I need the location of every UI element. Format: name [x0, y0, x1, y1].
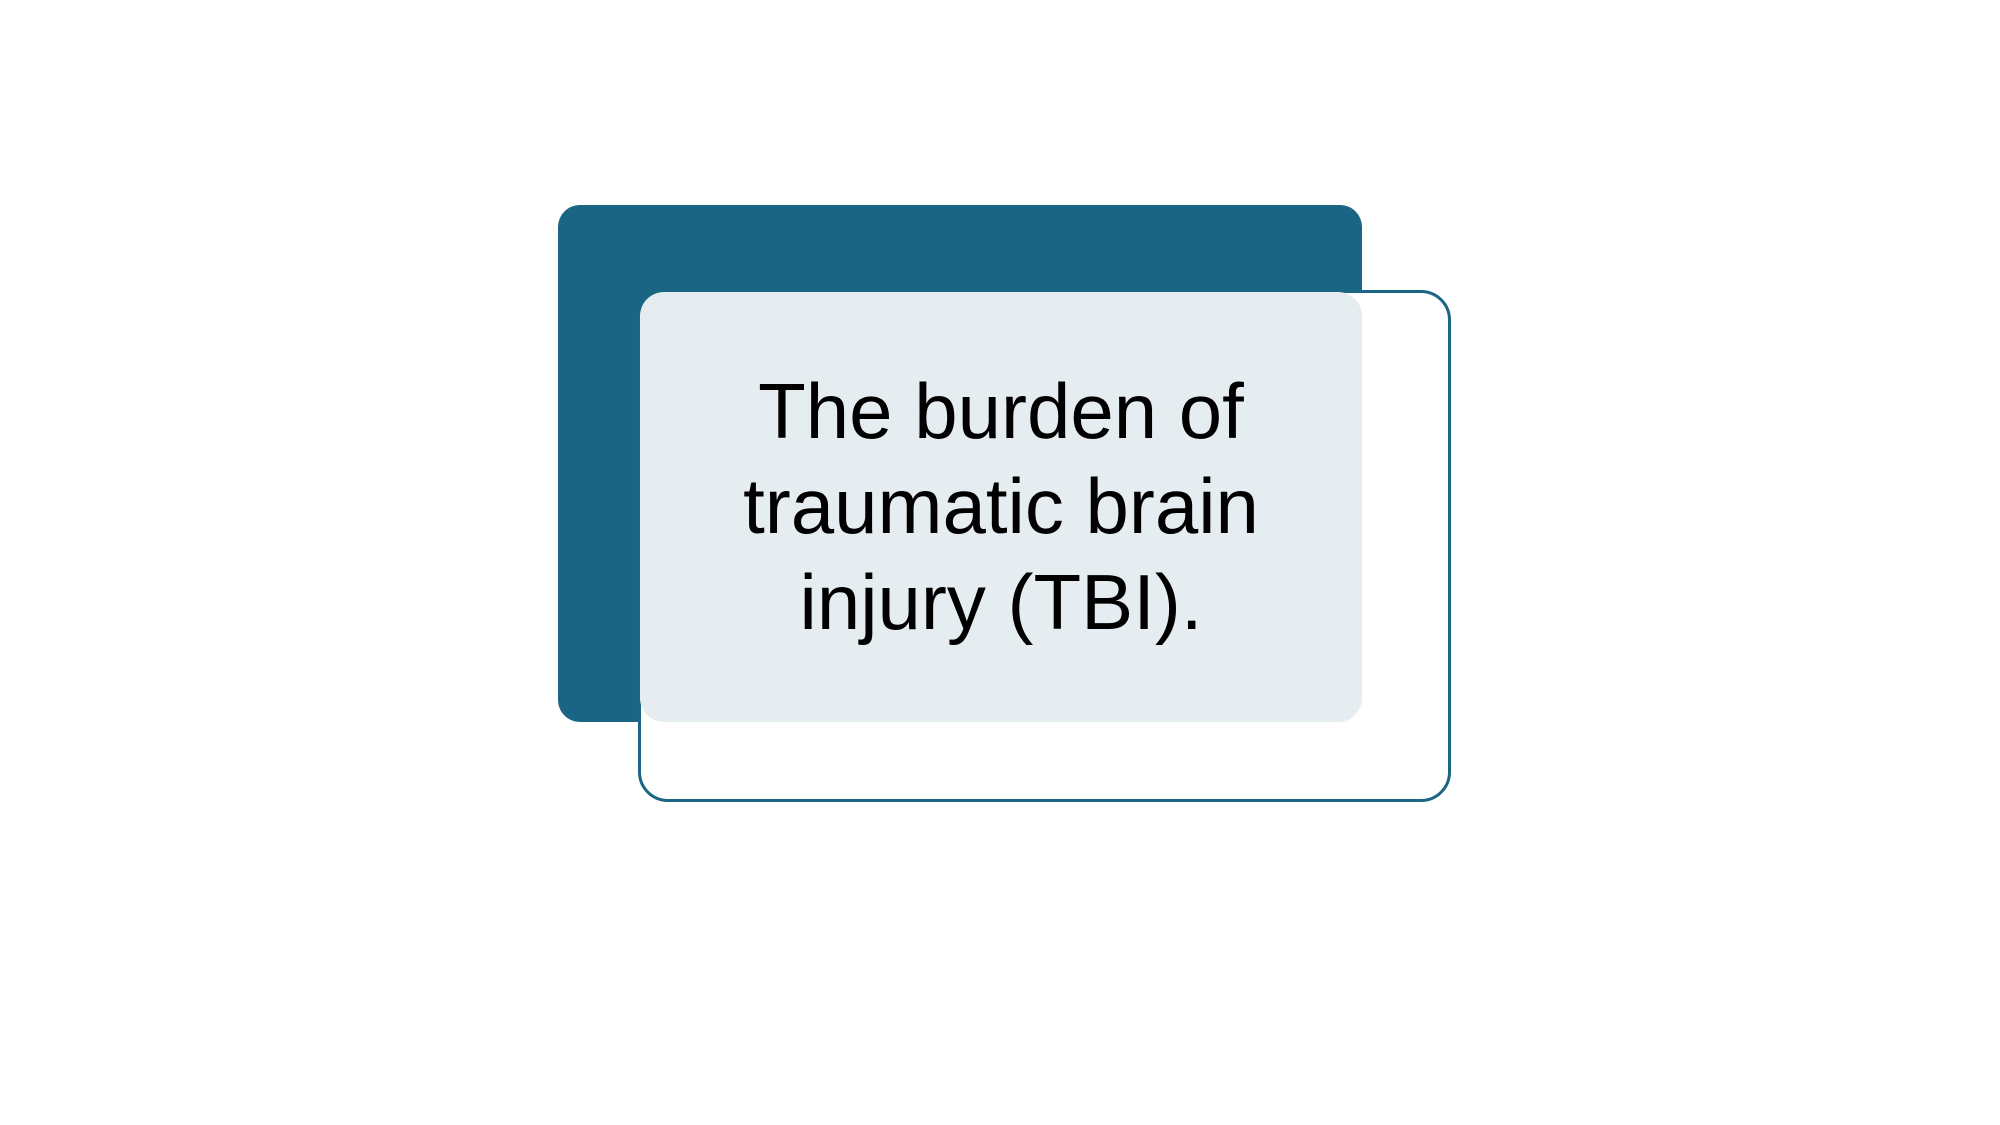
headline-line-3: injury (TBI). — [640, 555, 1362, 650]
headline-line-1: The burden of — [640, 364, 1362, 459]
headline-line-2: traumatic brain — [640, 459, 1362, 554]
slide-canvas: The burden of traumatic brain injury (TB… — [0, 0, 2000, 1125]
headline-text-block: The burden of traumatic brain injury (TB… — [640, 292, 1362, 722]
